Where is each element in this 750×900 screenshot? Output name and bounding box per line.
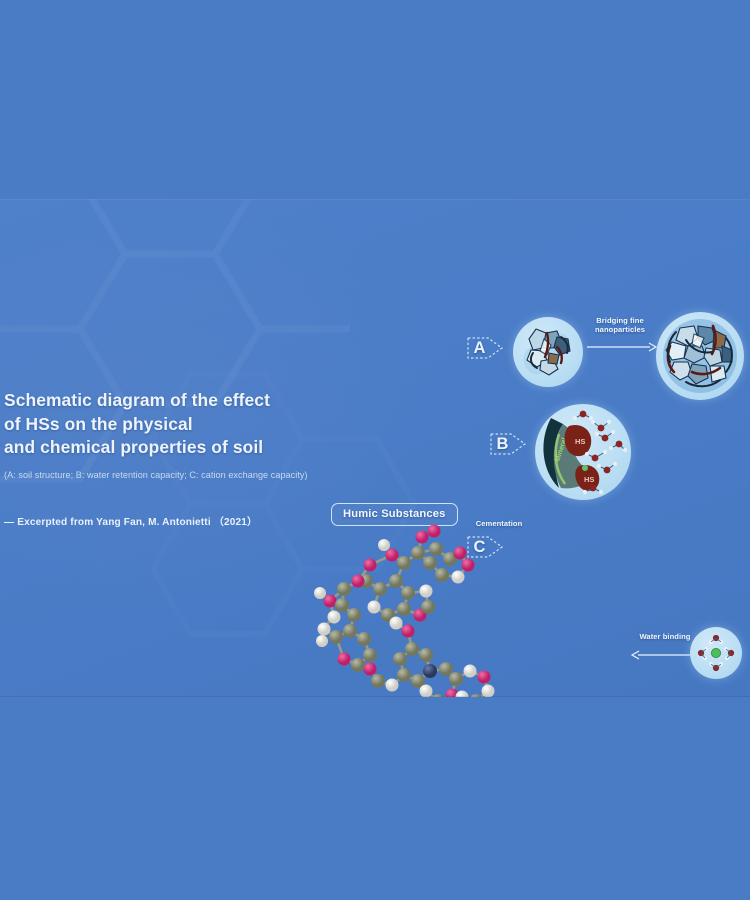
row-b-right-circle [690,627,742,679]
row-a-arrow-right [586,341,658,353]
title-line-1: Schematic diagram of the effect [4,389,344,413]
page-title: Schematic diagram of the effect of HSs o… [4,389,344,460]
row-a-arrow-label: Bridging fine nanoparticles [584,316,656,335]
row-b-inner-label-hs-2: HS [584,475,594,484]
figure-canvas: Schematic diagram of the effect of HSs o… [0,0,750,900]
title-line-3: and chemical properties of soil [4,436,344,460]
source-attribution: — Excerpted from Yang Fan, M. Antonietti… [4,513,344,528]
row-b-arrow-label-line-1: Water binding [633,632,697,641]
row-a-left-circle [513,317,583,387]
row-a-right-circle [656,312,744,400]
row-c-marker-letter-wrap: C [466,530,506,564]
row-c-letter: C [469,530,490,564]
row-a-arrow-label-line-1: Bridging fine [584,316,656,325]
row-c-marker-caption: Cementation [468,519,530,528]
row-a-letter: A [469,331,490,365]
row-b-marker-letter-wrap: B [489,427,529,461]
row-b-arrow-label: Water binding [633,632,697,641]
row-b-left-circle: Mineral HS HS [535,404,631,500]
row-a-marker-letter-wrap: A [466,331,506,365]
legend-key: (A: soil structure; B: water retention c… [4,469,344,482]
caption-block: Schematic diagram of the effect of HSs o… [4,389,344,528]
row-b-letter: B [492,427,513,461]
illustration-panel: Schematic diagram of the effect of HSs o… [0,199,750,697]
row-b-arrow-left [630,649,696,661]
row-a-arrow-label-line-2: nanoparticles [584,325,656,334]
title-line-2: of HSs on the physical [4,413,344,437]
row-b-inner-label-hs-1: HS [575,437,585,446]
